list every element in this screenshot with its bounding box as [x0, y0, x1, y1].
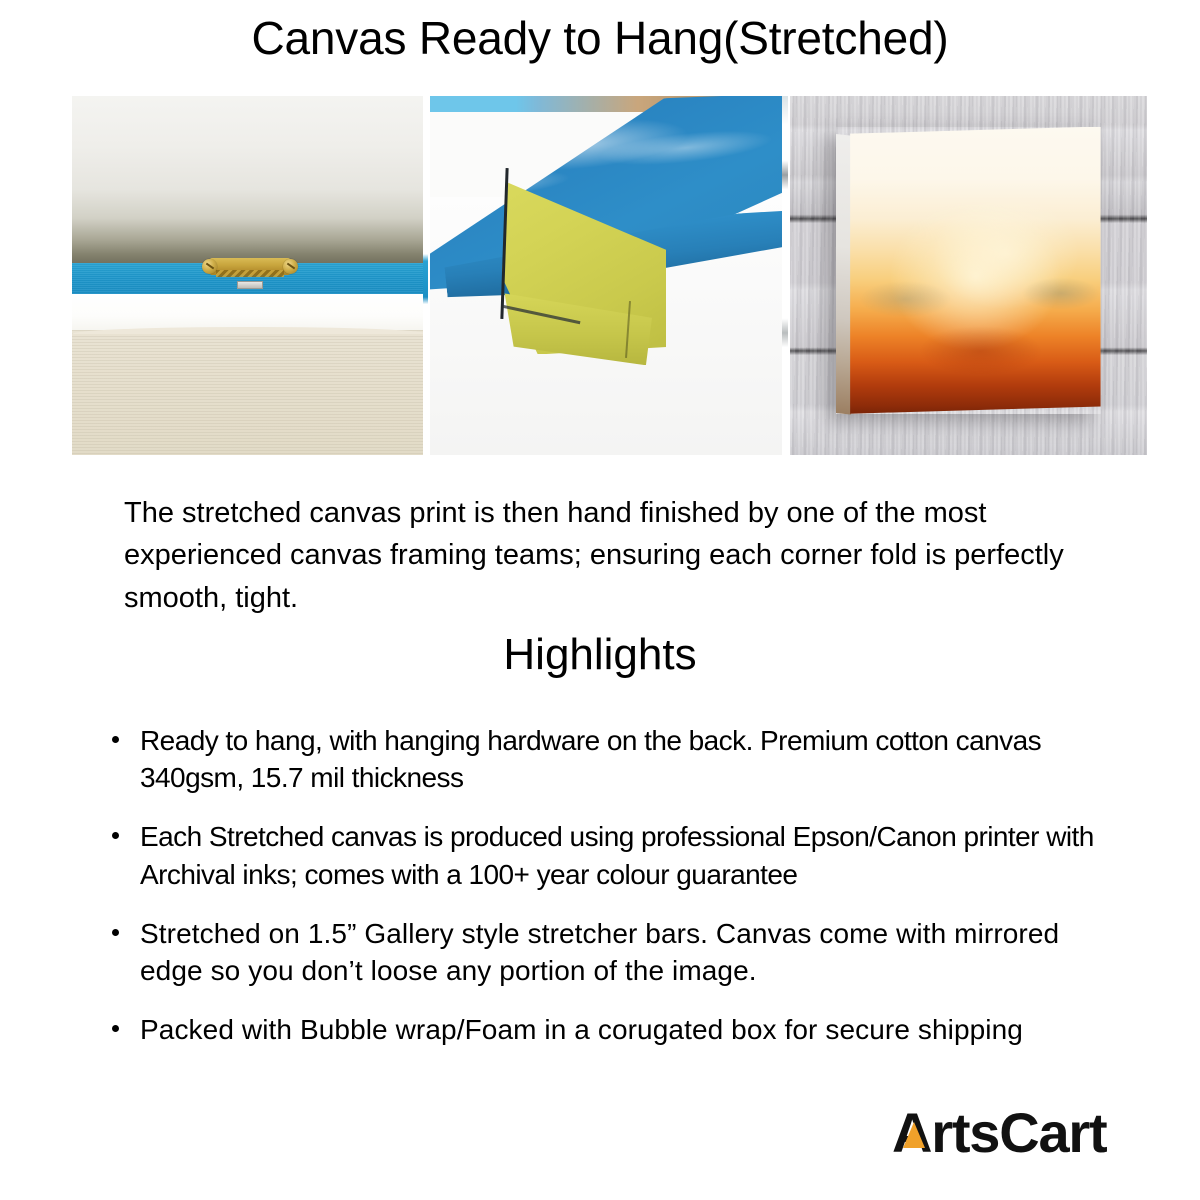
bullet-icon — [112, 832, 119, 839]
canvas-back-hanging-hardware-image — [72, 96, 428, 455]
list-item: Ready to hang, with hanging hardware on … — [108, 722, 1120, 796]
sunset-landscape-print — [850, 127, 1100, 414]
hanger-screw-left — [202, 259, 217, 274]
canvas-side-depth — [836, 134, 851, 414]
list-item: Packed with Bubble wrap/Foam in a coruga… — [108, 1011, 1120, 1048]
page-title: Canvas Ready to Hang(Stretched) — [0, 14, 1200, 62]
canvas-hung-on-wall-image — [790, 96, 1147, 455]
photo-right-edge — [423, 96, 428, 455]
highlight-text: Ready to hang, with hanging hardware on … — [140, 725, 1041, 793]
highlight-text: Packed with Bubble wrap/Foam in a coruga… — [140, 1014, 1023, 1045]
highlight-text: Stretched on 1.5” Gallery style stretche… — [140, 918, 1059, 986]
triangle-icon — [903, 1122, 925, 1148]
list-item: Each Stretched canvas is produced using … — [108, 818, 1120, 892]
product-description: The stretched canvas print is then hand … — [124, 492, 1068, 619]
product-image-strip — [72, 96, 1147, 455]
bullet-icon — [112, 929, 119, 936]
hanger-screw-right — [283, 259, 298, 274]
hanger-tab — [237, 281, 263, 289]
bullet-icon — [112, 1025, 119, 1032]
photo-right-edge — [782, 96, 788, 455]
hanger-teeth — [216, 270, 284, 277]
hung-canvas — [836, 127, 1100, 414]
canvas-white-band — [72, 294, 428, 332]
product-info-page: Canvas Ready to Hang(Stretched) — [0, 0, 1200, 1200]
highlights-heading: Highlights — [0, 630, 1200, 680]
bullet-icon — [112, 736, 119, 743]
list-item: Stretched on 1.5” Gallery style stretche… — [108, 915, 1120, 989]
brand-logo: ArtsCart — [892, 1102, 1106, 1164]
canvas-fabric-texture — [72, 330, 428, 455]
canvas-corner-fold-image — [430, 96, 788, 455]
sawtooth-hanger-icon — [202, 256, 298, 279]
highlight-text: Each Stretched canvas is produced using … — [140, 821, 1094, 889]
highlights-list: Ready to hang, with hanging hardware on … — [108, 722, 1120, 1049]
